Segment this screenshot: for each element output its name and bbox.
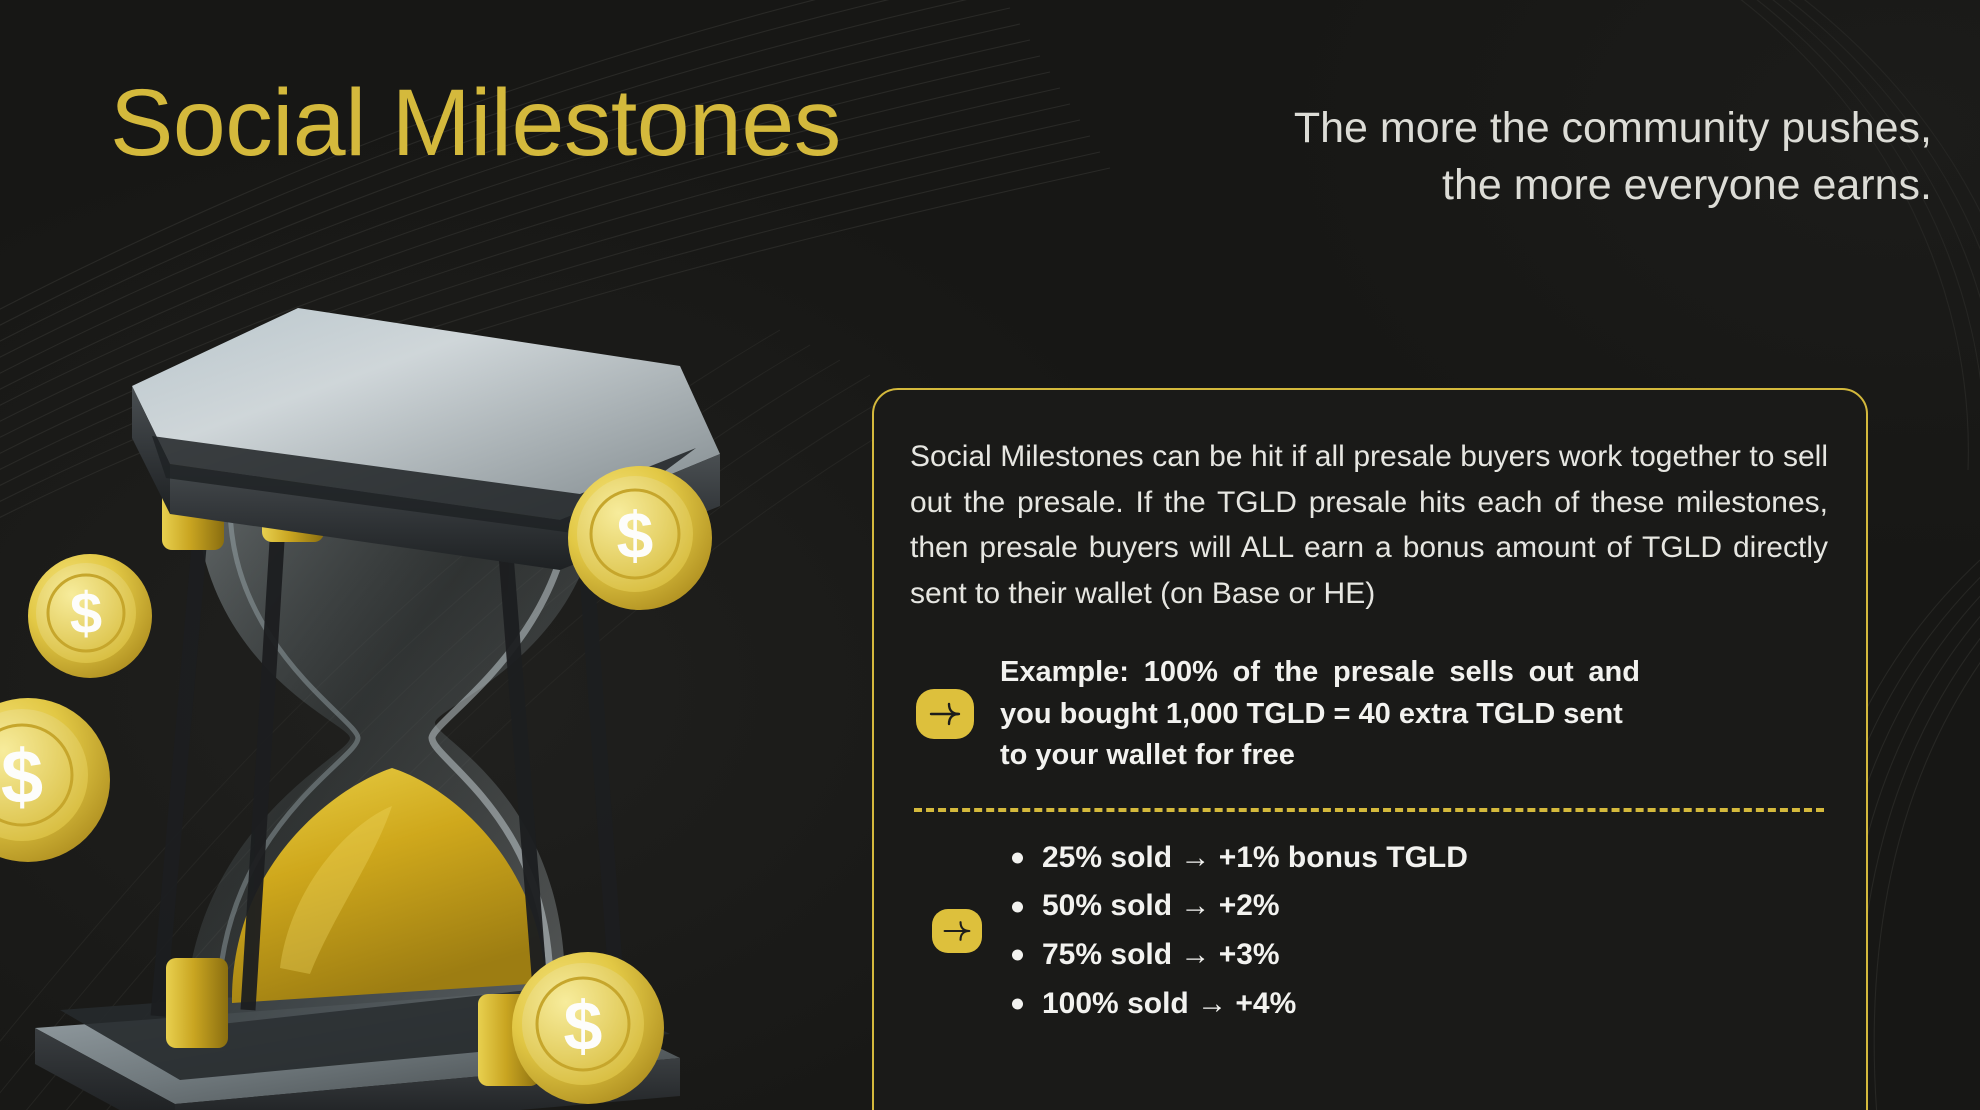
example-line-2: you bought 1,000 TGLD = 40 extra TGLD se…	[1000, 698, 1623, 730]
example-line-1: Example: 100% of the presale sells out a…	[1000, 656, 1640, 688]
milestones-row: 25% sold → +1% bonus TGLD 50% sold → +2%…	[910, 834, 1824, 1028]
svg-text:$: $	[1, 735, 43, 820]
example-text: Example: 100% of the presale sells out a…	[1000, 652, 1640, 776]
svg-text:$: $	[564, 987, 603, 1065]
svg-text:$: $	[70, 581, 102, 646]
svg-text:$: $	[617, 498, 654, 572]
list-item: 75% sold → +3%	[1008, 931, 1468, 980]
page-title: Social Milestones	[110, 72, 841, 175]
card-description-paragraph: Social Milestones can be hit if all pres…	[910, 434, 1828, 616]
tagline: The more the community pushes, the more …	[1032, 100, 1932, 214]
arrow-right-icon	[916, 689, 974, 739]
milestones-info-card: Social Milestones can be hit if all pres…	[872, 388, 1868, 1110]
arrow-right-icon	[932, 909, 982, 953]
gold-coin: $	[0, 698, 110, 862]
hourglass-with-gold-coins-illustration: $ $ $ $	[0, 268, 880, 1110]
example-line-3: to your wallet for free	[1000, 735, 1640, 776]
list-item: 100% sold → +4%	[1008, 980, 1468, 1029]
slide-root: Social Milestones The more the community…	[0, 0, 1980, 1110]
list-item: 50% sold → +2%	[1008, 882, 1468, 931]
tagline-line-2: the more everyone earns.	[1032, 157, 1932, 214]
dashed-divider	[914, 808, 1824, 812]
list-item: 25% sold → +1% bonus TGLD	[1008, 834, 1468, 883]
gold-coin: $	[512, 952, 664, 1104]
tagline-line-1: The more the community pushes,	[1032, 100, 1932, 157]
gold-coin: $	[568, 466, 712, 610]
example-row: Example: 100% of the presale sells out a…	[910, 652, 1824, 776]
gold-coin: $	[28, 554, 152, 678]
milestone-bullet-list: 25% sold → +1% bonus TGLD 50% sold → +2%…	[1008, 834, 1468, 1028]
